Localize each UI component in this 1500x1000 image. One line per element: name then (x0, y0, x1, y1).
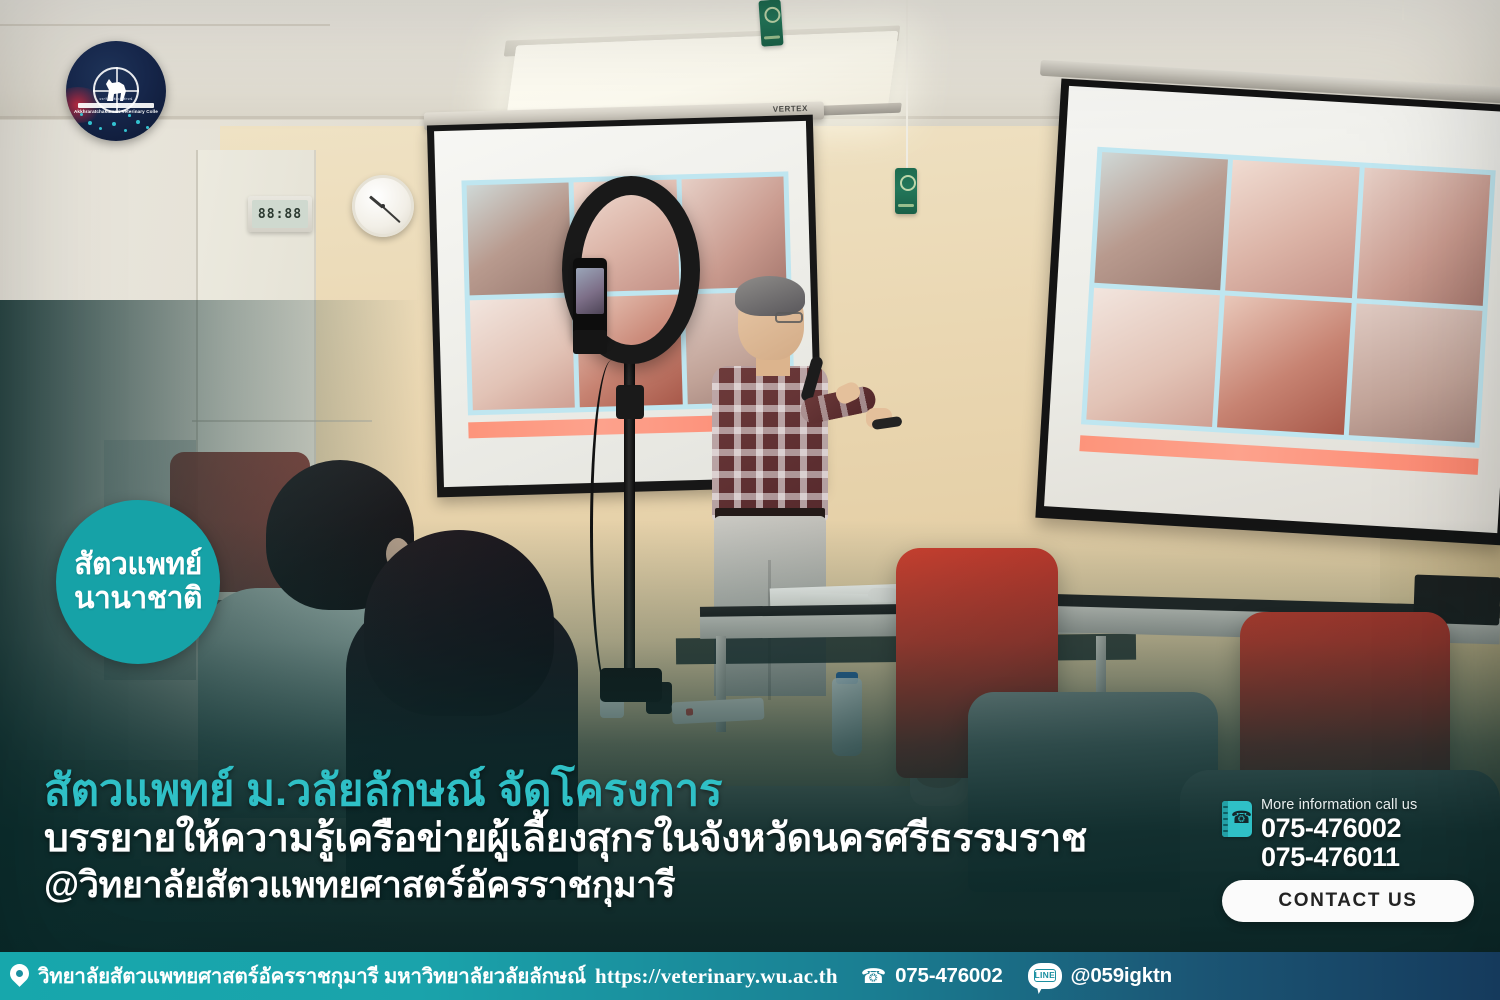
slide-cell (1349, 304, 1483, 443)
slide-cell (1094, 152, 1228, 291)
slide-cell (1086, 288, 1220, 427)
headline-line-2: บรรยายให้ความรู้เครือข่ายผู้เลี้ยงสุกรใน… (44, 816, 1204, 862)
contact-phone-group: ☎ More information call us 075-476002 07… (1222, 798, 1484, 871)
logo-thai-name: มหาวิทยาลัยวลัยลักษณ์ (78, 97, 154, 102)
badge-line-2: นานาชาติ (74, 582, 202, 616)
contact-block: ☎ More information call us 075-476002 07… (1222, 798, 1484, 922)
presenter-glasses (775, 312, 803, 323)
clock-center-pin (381, 204, 385, 208)
digital-clock-readout: 88:88 (258, 207, 302, 222)
slide-cell (1225, 160, 1359, 299)
contact-us-button[interactable]: CONTACT US (1222, 880, 1474, 922)
footer-phone-number: 075-476002 (895, 964, 1002, 988)
clock-minute-hand (382, 206, 400, 223)
slide-cell (1217, 296, 1351, 435)
digital-clock: 88:88 (248, 196, 312, 232)
handset-glyph: ☎ (1231, 809, 1252, 826)
college-logo: มหาวิทยาลัยวลัยลักษณ์ Akkhraratchakumari… (66, 41, 166, 141)
projector-brand-label: VERTEX (773, 104, 808, 114)
contact-text-group: More information call us 075-476002 075-… (1261, 798, 1417, 871)
footer-address: วิทยาลัยสัตวแพทยศาสตร์อัครราชกุมารี มหาว… (38, 960, 586, 993)
slide-cell (467, 182, 572, 295)
phone-book-icon: ☎ (1222, 801, 1252, 837)
contact-phone-1: 075-476002 (1261, 814, 1417, 843)
ring-light-mount (616, 385, 644, 419)
line-app-label: LINE (1034, 969, 1056, 982)
more-information-label: More information call us (1261, 798, 1417, 814)
logo-name-bar (78, 103, 154, 108)
slide-cell (470, 297, 575, 410)
headline-block: สัตวแพทย์ ม.วลัยลักษณ์ จัดโครงการ บรรยาย… (44, 768, 1204, 906)
badge-line-1: สัตวแพทย์ (74, 548, 202, 582)
headline-line-3: @วิทยาลัยสัตวแพทยศาสตร์อัครราชกุมารี (44, 864, 1204, 906)
footer-website-link[interactable]: https://veterinary.wu.ac.th (595, 964, 838, 989)
smartphone-screen (576, 268, 604, 314)
contact-phone-2: 075-476011 (1261, 843, 1417, 872)
headline-line-1: สัตวแพทย์ ม.วลัยลักษณ์ จัดโครงการ (44, 768, 1204, 814)
logo-english-name: Akkhraratchakumari Veterinary College (74, 109, 158, 114)
hanging-tag-icon-1 (758, 0, 783, 47)
slide-image-grid-right (1081, 147, 1496, 448)
footer-bar: วิทยาลัยสัตวแพทยศาสตร์อัครราชกุมารี มหาว… (0, 952, 1500, 1000)
international-vet-badge: สัตวแพทย์ นานาชาติ (56, 500, 220, 664)
slide-cell (1357, 168, 1491, 307)
contact-us-button-label: CONTACT US (1278, 890, 1417, 912)
line-app-icon[interactable]: LINE (1028, 963, 1062, 989)
projection-screen-right (1035, 78, 1500, 545)
location-pin-icon (10, 964, 29, 988)
presenter-hair (735, 276, 805, 316)
phone-holder (573, 330, 607, 354)
footer-line-id: @059igktn (1071, 964, 1172, 988)
poster-canvas: 88:88 VERTEX (0, 0, 1500, 1000)
tag-string-2 (906, 0, 908, 170)
hanging-tag-icon-2 (895, 168, 917, 214)
footer-phone-icon: ☎ (861, 964, 886, 989)
ceiling-seam-secondary (0, 24, 330, 26)
tag-string-3 (1402, 0, 1404, 20)
analog-wall-clock (352, 175, 414, 237)
projection-surface-right (1044, 86, 1500, 533)
